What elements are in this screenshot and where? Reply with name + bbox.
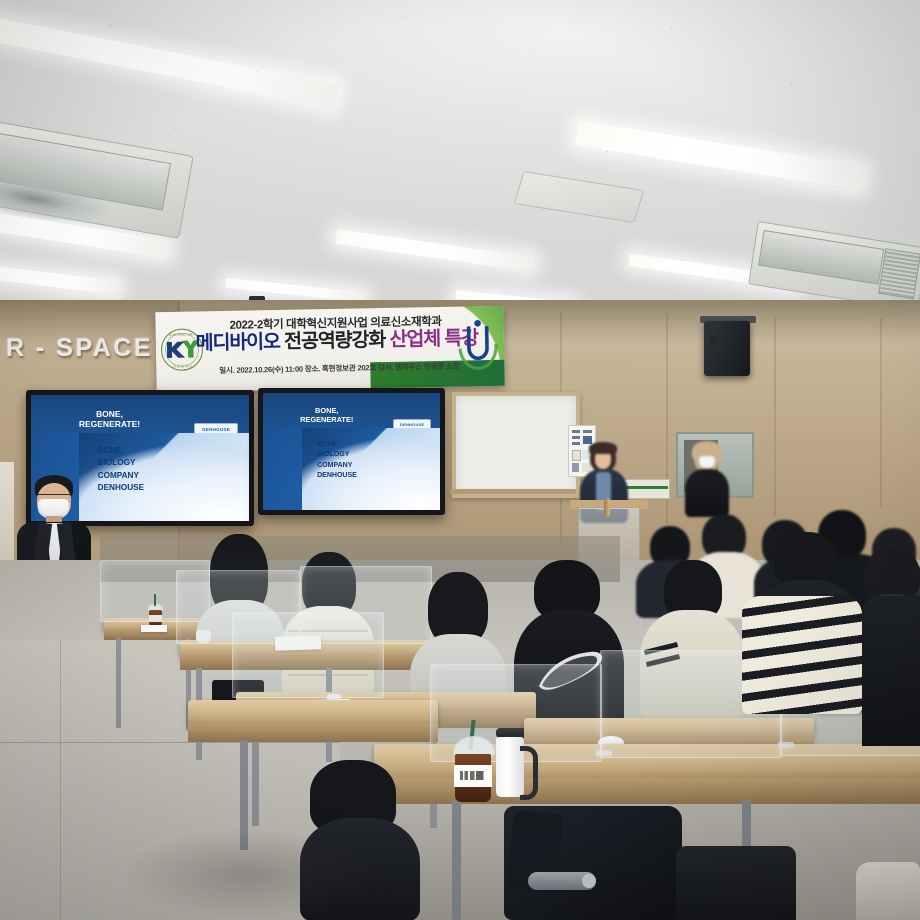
wall-speaker <box>704 321 750 376</box>
ceiling-access-panel <box>514 171 645 223</box>
slide-body: BONE BIOLOGY COMPANY DENHOUSE <box>302 428 440 510</box>
slide-body-line: BIOLOGY <box>317 450 357 461</box>
ceiling-ac-unit <box>0 119 194 239</box>
slide-body: BONE BIOLOGY COMPANY DENHOUSE <box>79 433 249 521</box>
tumbler-handle <box>520 746 538 800</box>
fur-trim <box>856 862 920 920</box>
wall-seam <box>774 316 776 516</box>
audience-front-dark <box>862 596 920 746</box>
lecture-hall-photo: R - SPACE KONYANG UNIV 건 양 대 학 교 2022-2학… <box>0 0 920 920</box>
slide-body-line: DENHOUSE <box>98 482 144 494</box>
ceiling <box>0 0 920 322</box>
slide-body-line: BONE <box>98 445 144 457</box>
event-banner: KONYANG UNIV 건 양 대 학 교 2022-2학기 대학혁신지원사업… <box>155 306 504 392</box>
cup-sleeve-logo <box>460 771 486 780</box>
ceiling-light <box>0 12 339 108</box>
whiteboard <box>452 392 580 498</box>
denhouse-logo-text: DENHOUSE <box>202 427 230 432</box>
audience-front-striped-knit <box>742 596 862 726</box>
slide-body-line: BIOLOGY <box>98 457 144 469</box>
paper-handout <box>141 625 167 632</box>
ceiling-light <box>628 253 798 290</box>
white-tumbler <box>496 728 528 798</box>
banner-title-part1: 메디바이오 <box>195 331 280 355</box>
striped-knit <box>742 596 862 714</box>
water-cup <box>196 630 211 643</box>
svg-text:혁신: 혁신 <box>474 366 482 373</box>
face-mask-icon <box>699 456 715 468</box>
desk-leg <box>116 638 121 728</box>
university-innovation-logo: UNIV 혁신 <box>455 318 500 375</box>
iced-coffee-cup <box>452 732 494 804</box>
ceiling-light <box>335 229 535 272</box>
divider-foot <box>778 742 794 748</box>
water-bottle <box>604 499 610 517</box>
presentation-slide: BONE, REGENERATE! DENHOUSE BONE BIOLOGY … <box>263 393 440 510</box>
ceiling-ac-unit <box>748 221 920 311</box>
denhouse-logo-text: DENHOUSE <box>400 422 424 427</box>
front-desk-leg <box>452 800 461 920</box>
front-desk-left <box>188 700 438 726</box>
slide-body-text: BONE BIOLOGY COMPANY DENHOUSE <box>98 445 144 494</box>
slide-body-line: DENHOUSE <box>317 471 357 482</box>
slide-headline-line2: REGENERATE! <box>263 416 390 425</box>
ceiling-light <box>830 272 920 298</box>
slide-headline-line2: REGENERATE! <box>31 420 188 430</box>
right-display: BONE, REGENERATE! DENHOUSE BONE BIOLOGY … <box>258 388 445 515</box>
slide-body-line: COMPANY <box>98 470 144 482</box>
ceiling-light <box>575 120 865 190</box>
ceiling-light <box>0 204 170 259</box>
divider-foot <box>596 750 612 756</box>
svg-text:건 양 대 학 교: 건 양 대 학 교 <box>173 364 192 369</box>
backpack-buckle <box>582 874 596 888</box>
slide-body-line: BONE <box>317 440 357 451</box>
banner-title-part2: 전공역량강화 <box>284 329 385 353</box>
floor-shadow <box>120 828 380 920</box>
ceiling-light <box>225 278 365 303</box>
venue-sign: R - SPACE <box>6 334 153 363</box>
hair-front <box>589 442 617 454</box>
wall-seam <box>880 318 882 508</box>
chair-back <box>676 846 796 920</box>
whiteboard-tray <box>450 489 576 494</box>
slide-headline: BONE, REGENERATE! <box>31 410 188 430</box>
ceiling-light <box>0 263 120 295</box>
acrylic-divider <box>232 612 384 698</box>
slide-body-text: BONE BIOLOGY COMPANY DENHOUSE <box>317 440 357 482</box>
front-desk-left-panel <box>188 724 438 742</box>
slide-body-line: COMPANY <box>317 461 357 472</box>
slide-headline: BONE, REGENERATE! <box>263 407 390 424</box>
floor-tile-seam <box>0 742 340 743</box>
floor-tile-seam <box>60 640 61 920</box>
ceiling-fan-blades <box>0 171 114 231</box>
